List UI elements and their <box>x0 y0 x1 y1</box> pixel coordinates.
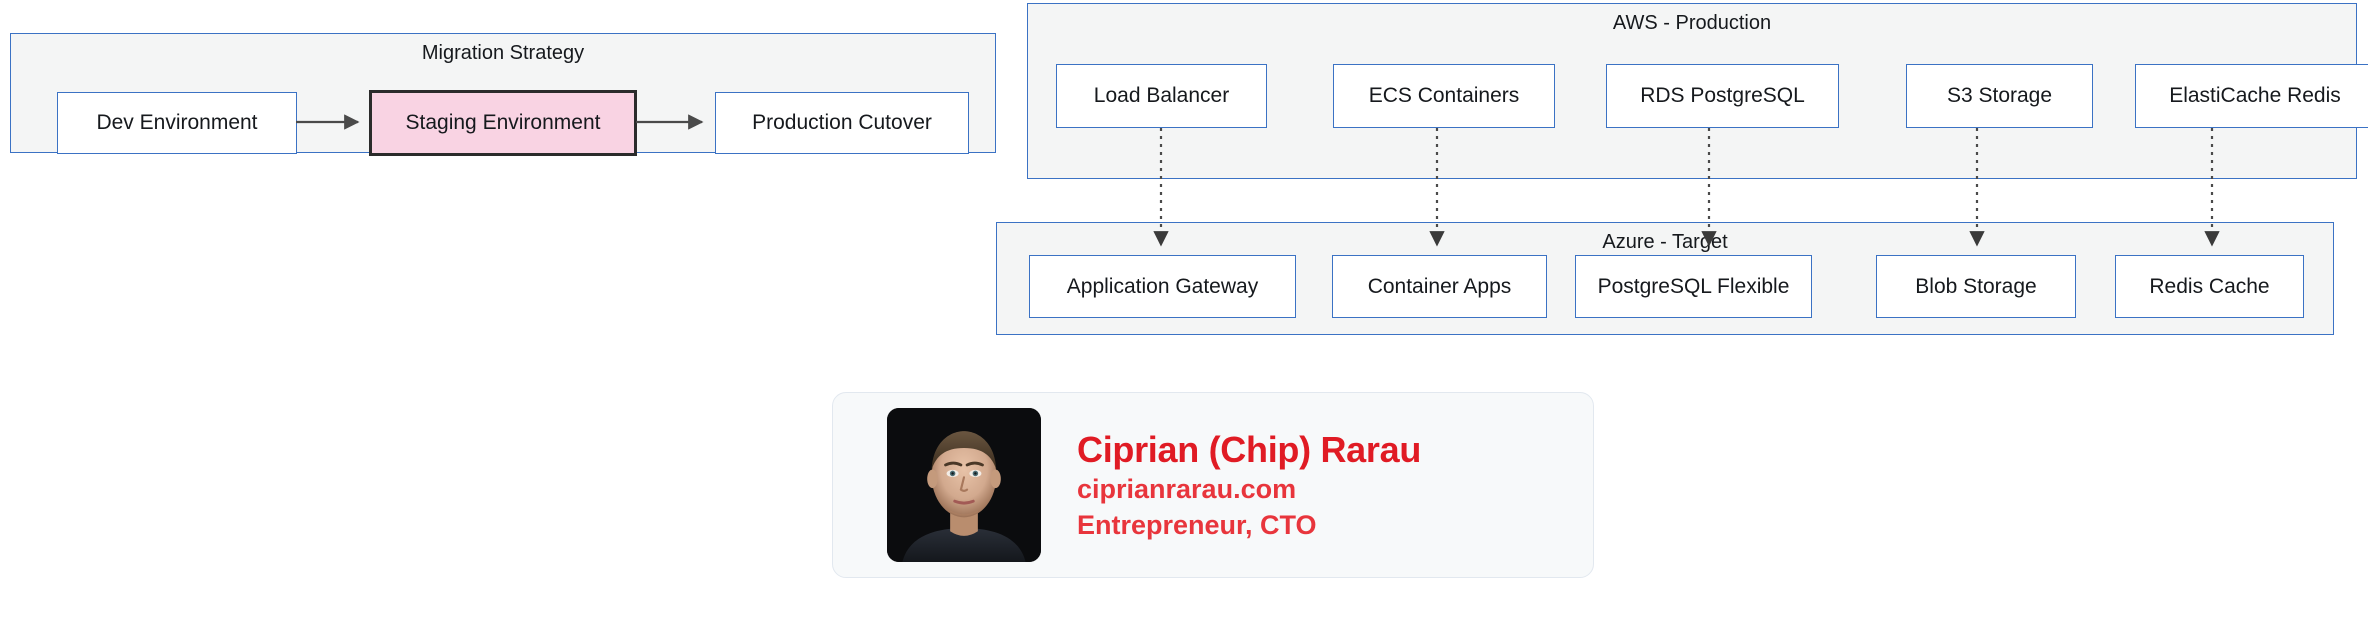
node-staging-environment[interactable]: Staging Environment <box>369 90 637 156</box>
cluster-azure-target: Azure - Target Application Gateway Conta… <box>996 222 2334 335</box>
node-ecs-containers[interactable]: ECS Containers <box>1333 64 1555 128</box>
node-label: ECS Containers <box>1369 84 1520 108</box>
node-rds-postgresql[interactable]: RDS PostgreSQL <box>1606 64 1839 128</box>
node-label: Application Gateway <box>1067 275 1258 299</box>
node-label: Blob Storage <box>1915 275 2036 299</box>
profile-text-block: Ciprian (Chip) Rarau ciprianrarau.com En… <box>1077 428 1421 543</box>
node-redis-cache[interactable]: Redis Cache <box>2115 255 2304 318</box>
node-label: Redis Cache <box>2149 275 2269 299</box>
cluster-title-aws-production: AWS - Production <box>1028 12 2356 34</box>
node-load-balancer[interactable]: Load Balancer <box>1056 64 1267 128</box>
node-label: PostgreSQL Flexible <box>1598 275 1790 299</box>
node-label: S3 Storage <box>1947 84 2052 108</box>
node-label: Staging Environment <box>406 111 601 135</box>
avatar <box>887 408 1041 562</box>
node-production-cutover[interactable]: Production Cutover <box>715 92 969 154</box>
cluster-title-azure-target: Azure - Target <box>997 231 2333 253</box>
profile-card: Ciprian (Chip) Rarau ciprianrarau.com En… <box>832 392 1594 578</box>
profile-role: Entrepreneur, CTO <box>1077 509 1421 542</box>
node-blob-storage[interactable]: Blob Storage <box>1876 255 2076 318</box>
node-elasticache-redis[interactable]: ElastiCache Redis <box>2135 64 2368 128</box>
cluster-aws-production: AWS - Production Load Balancer ECS Conta… <box>1027 3 2357 179</box>
portrait-photo-icon <box>887 408 1041 562</box>
profile-website[interactable]: ciprianrarau.com <box>1077 473 1421 506</box>
node-application-gateway[interactable]: Application Gateway <box>1029 255 1296 318</box>
node-label: RDS PostgreSQL <box>1640 84 1805 108</box>
profile-name: Ciprian (Chip) Rarau <box>1077 428 1421 472</box>
node-label: ElastiCache Redis <box>2169 84 2341 108</box>
node-label: Production Cutover <box>752 111 932 135</box>
node-postgresql-flexible[interactable]: PostgreSQL Flexible <box>1575 255 1812 318</box>
node-dev-environment[interactable]: Dev Environment <box>57 92 297 154</box>
node-label: Container Apps <box>1368 275 1512 299</box>
node-label: Load Balancer <box>1094 84 1229 108</box>
cluster-migration-strategy: Migration Strategy Dev Environment Stagi… <box>10 33 996 153</box>
node-container-apps[interactable]: Container Apps <box>1332 255 1547 318</box>
node-label: Dev Environment <box>96 111 257 135</box>
cluster-title-migration-strategy: Migration Strategy <box>11 42 995 64</box>
node-s3-storage[interactable]: S3 Storage <box>1906 64 2093 128</box>
